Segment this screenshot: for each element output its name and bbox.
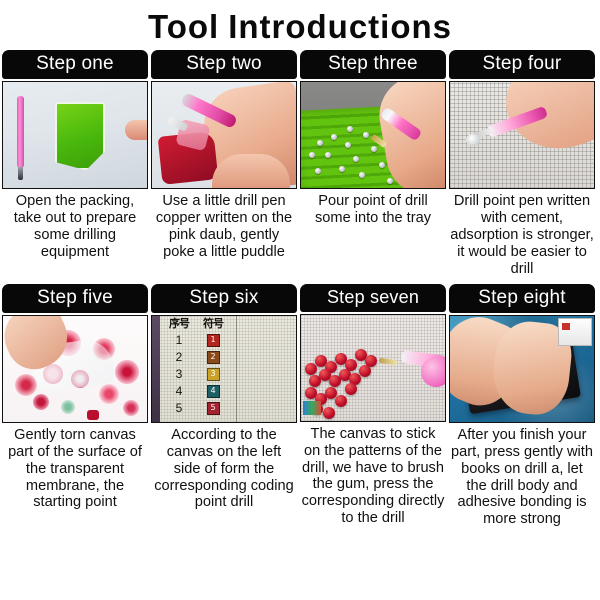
step-card-seven: Step seven	[300, 284, 446, 528]
coding-row-number: 2	[162, 351, 196, 363]
step-header-two: Step two	[151, 50, 297, 79]
pen-cap-icon	[421, 357, 446, 387]
step-card-five: Step five Gently torn canvas part of the…	[2, 284, 148, 528]
step-photo-seven	[300, 314, 446, 422]
coding-row-symbol-cell: 5	[196, 402, 230, 415]
green-tray-icon	[55, 102, 105, 170]
red-drill-icon	[335, 395, 347, 407]
red-drill-icon	[323, 407, 335, 419]
red-drill-icon	[359, 365, 371, 377]
coding-symbol-chip: 5	[207, 402, 220, 415]
step-card-four: Step four Drill point pen written with c…	[449, 50, 595, 278]
coding-row-symbol-cell: 1	[196, 334, 230, 347]
cement-blob-icon	[466, 134, 480, 146]
canvas-edge	[152, 316, 160, 422]
finger-icon	[212, 154, 290, 189]
step-header-five: Step five	[2, 284, 148, 313]
coding-row-symbol-cell: 2	[196, 351, 230, 364]
flower-icon	[99, 384, 119, 404]
page-title-word-2: Introductions	[228, 8, 452, 45]
step-photo-five	[2, 315, 148, 423]
paper-sheet-icon	[558, 318, 592, 346]
chart-divider	[236, 316, 237, 423]
coding-chart-col-symbol: 符号	[196, 319, 230, 330]
pen-tip-icon	[379, 357, 398, 364]
coding-row-symbol-cell: 3	[196, 368, 230, 381]
coding-symbol-chip: 3	[207, 368, 220, 381]
coding-row-number: 1	[162, 334, 196, 346]
step-header-three: Step three	[300, 50, 446, 79]
step-caption-six: According to the canvas on the left side…	[151, 423, 297, 512]
page-title-word-1: Tool	[148, 8, 219, 45]
coding-chart-header: 序号 符号	[162, 319, 232, 332]
step-header-seven: Step seven	[300, 284, 446, 312]
coding-row-number: 4	[162, 385, 196, 397]
flower-icon	[123, 400, 139, 416]
step-card-six: Step six 序号 符号 1 1 2	[151, 284, 297, 528]
steps-row-top: Step one Open the packing, take out to p…	[0, 50, 600, 278]
step-photo-one	[2, 81, 148, 189]
step-caption-seven: The canvas to stick on the patterns of t…	[300, 422, 446, 528]
step-photo-six: 序号 符号 1 1 2 2	[151, 315, 297, 423]
page-title: ToolIntroductions	[0, 0, 600, 47]
drill-bead-icon	[87, 410, 99, 420]
step-header-four: Step four	[449, 50, 595, 79]
step-caption-three: Pour point of drill some into the tray	[300, 189, 446, 227]
coding-chart: 序号 符号 1 1 2 2	[162, 319, 232, 421]
coding-chart-col-number: 序号	[162, 319, 196, 330]
step-header-eight: Step eight	[449, 284, 595, 313]
coding-chart-row: 2 2	[162, 349, 232, 366]
step-card-two: Step two Use a little drill pen copper w…	[151, 50, 297, 278]
step-photo-two	[151, 81, 297, 189]
coding-chart-row: 1 1	[162, 332, 232, 349]
coding-row-number: 3	[162, 368, 196, 380]
flower-icon	[115, 360, 139, 384]
step-caption-five: Gently torn canvas part of the surface o…	[2, 423, 148, 512]
pink-pen-icon	[17, 96, 24, 168]
step-header-six: Step six	[151, 284, 297, 313]
steps-row-bottom: Step five Gently torn canvas part of the…	[0, 284, 600, 528]
coding-symbol-chip: 2	[207, 351, 220, 364]
finger-icon	[125, 120, 148, 140]
step-card-three: Step three	[300, 50, 446, 278]
coding-row-number: 5	[162, 402, 196, 414]
coding-row-symbol-cell: 4	[196, 385, 230, 398]
coding-chart-row: 5 5	[162, 400, 232, 417]
coding-symbol-chip: 1	[207, 334, 220, 347]
color-chip-icon	[303, 401, 321, 415]
step-caption-two: Use a little drill pen copper written on…	[151, 189, 297, 261]
tool-introductions-page: ToolIntroductions Step one Open the pack…	[0, 0, 600, 600]
coding-chart-row: 3 3	[162, 366, 232, 383]
step-caption-four: Drill point pen written with cement, ads…	[449, 189, 595, 278]
step-photo-four	[449, 81, 595, 189]
step-photo-eight	[449, 315, 595, 423]
step-photo-three	[300, 81, 446, 189]
red-drill-icon	[345, 383, 357, 395]
flower-icon	[33, 394, 49, 410]
step-caption-eight: After you finish your part, press gently…	[449, 423, 595, 529]
coding-symbol-chip: 4	[207, 385, 220, 398]
pen-tip-icon	[18, 167, 23, 180]
coding-chart-row: 4 4	[162, 383, 232, 400]
leaf-icon	[61, 400, 75, 414]
step-card-one: Step one Open the packing, take out to p…	[2, 50, 148, 278]
step-card-eight: Step eight After you finish your part, p…	[449, 284, 595, 528]
step-header-one: Step one	[2, 50, 148, 79]
step-caption-one: Open the packing, take out to prepare so…	[2, 189, 148, 261]
